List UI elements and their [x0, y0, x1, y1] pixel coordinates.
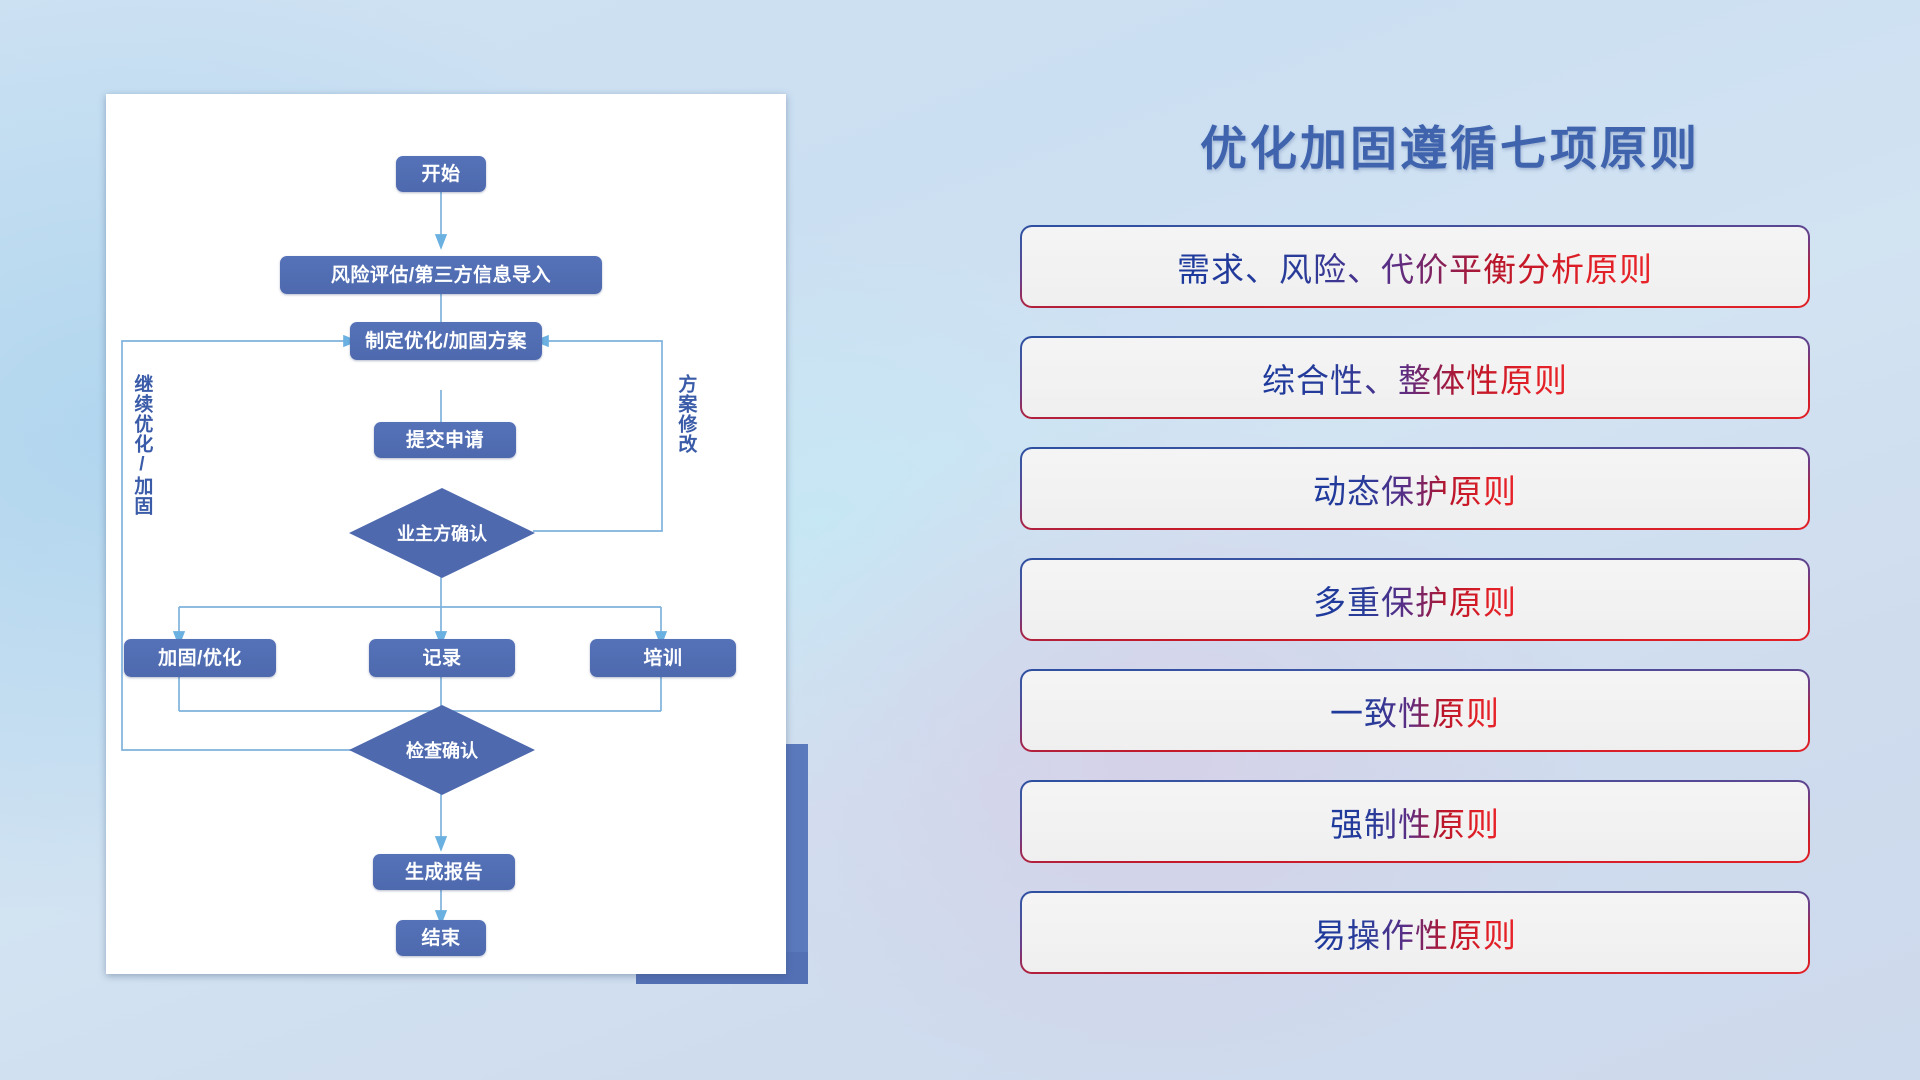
principle-item[interactable]: 一致性原则	[1020, 669, 1810, 752]
principle-box: 多重保护原则	[1022, 560, 1808, 639]
flow-node-plan[interactable]: 制定优化/加固方案	[350, 322, 542, 360]
flow-edge-label-continue-optimize: 继续优化/加固	[132, 374, 151, 516]
principle-box: 一致性原则	[1022, 671, 1808, 750]
flow-node-label: 开始	[421, 165, 460, 184]
flow-node-risk-assessment[interactable]: 风险评估/第三方信息导入	[280, 256, 602, 294]
principle-label: 强制性原则	[1330, 798, 1500, 846]
principle-box: 动态保护原则	[1022, 449, 1808, 528]
flow-node-label: 风险评估/第三方信息导入	[331, 266, 551, 285]
flow-node-label: 业主方确认	[397, 520, 487, 546]
principle-item[interactable]: 强制性原则	[1020, 780, 1810, 863]
principle-box: 易操作性原则	[1022, 893, 1808, 972]
principle-item[interactable]: 综合性、整体性原则	[1020, 336, 1810, 419]
principle-box: 强制性原则	[1022, 782, 1808, 861]
flow-node-reinforce[interactable]: 加固/优化	[124, 639, 276, 677]
flowchart-card: 开始 风险评估/第三方信息导入 制定优化/加固方案 提交申请 业主方确认 加固/…	[106, 94, 786, 974]
flow-node-end[interactable]: 结束	[396, 920, 486, 956]
principle-item[interactable]: 动态保护原则	[1020, 447, 1810, 530]
flow-node-label: 制定优化/加固方案	[365, 332, 527, 351]
flow-node-label: 生成报告	[405, 863, 483, 882]
slide-canvas: 开始 风险评估/第三方信息导入 制定优化/加固方案 提交申请 业主方确认 加固/…	[0, 0, 1920, 1080]
flow-node-label: 检查确认	[406, 737, 478, 763]
principle-label: 综合性、整体性原则	[1262, 354, 1568, 402]
principle-label: 多重保护原则	[1313, 576, 1517, 624]
flow-node-training[interactable]: 培训	[590, 639, 736, 677]
flow-node-record[interactable]: 记录	[369, 639, 515, 677]
principle-box: 需求、风险、代价平衡分析原则	[1022, 227, 1808, 306]
flow-node-start[interactable]: 开始	[396, 156, 486, 192]
flow-node-label: 结束	[421, 929, 460, 948]
principle-item[interactable]: 多重保护原则	[1020, 558, 1810, 641]
flow-node-submit-application[interactable]: 提交申请	[374, 422, 516, 458]
page-title: 优化加固遵循七项原则	[1020, 110, 1880, 179]
flow-node-generate-report[interactable]: 生成报告	[373, 854, 515, 890]
flow-edge-label-plan-revision: 方案修改	[676, 374, 695, 454]
flow-node-label: 记录	[422, 649, 461, 668]
principle-label: 一致性原则	[1330, 687, 1500, 735]
principle-item[interactable]: 易操作性原则	[1020, 891, 1810, 974]
principle-label: 易操作性原则	[1313, 909, 1517, 957]
flow-node-label: 提交申请	[406, 431, 484, 450]
principle-item[interactable]: 需求、风险、代价平衡分析原则	[1020, 225, 1810, 308]
flow-node-label: 培训	[643, 649, 682, 668]
principle-label: 需求、风险、代价平衡分析原则	[1177, 243, 1653, 291]
principles-pane: 优化加固遵循七项原则 需求、风险、代价平衡分析原则 综合性、整体性原则 动态保护…	[1020, 0, 1880, 1080]
principle-label: 动态保护原则	[1313, 465, 1517, 513]
principle-box: 综合性、整体性原则	[1022, 338, 1808, 417]
flow-node-label: 加固/优化	[158, 649, 242, 668]
